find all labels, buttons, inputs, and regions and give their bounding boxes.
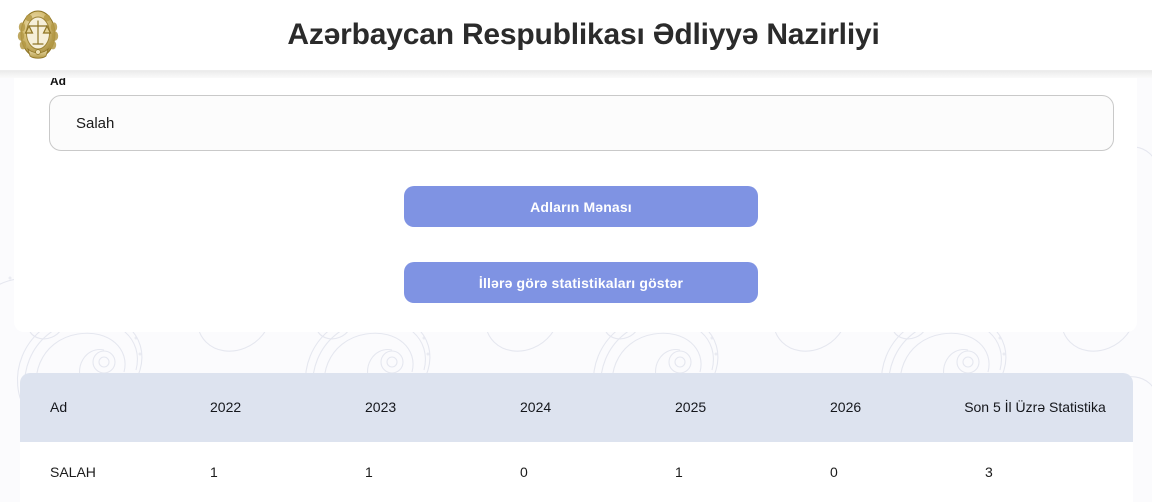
col-header-total: Son 5 İl Üzrə Statistika	[955, 373, 1133, 442]
results-table-container: Ad 2022 2023 2024 2025 2026 Son 5 İl Üzr…	[20, 373, 1133, 502]
adlarin-menasi-button[interactable]: Adların Mənası	[404, 186, 758, 227]
cell-total: 3	[955, 442, 1133, 502]
cell-2022: 1	[180, 442, 335, 502]
col-header-2024: 2024	[490, 373, 645, 442]
search-form-card: Ad Adların Mənası İllərə görə statistika…	[14, 64, 1137, 332]
cell-2023: 1	[335, 442, 490, 502]
col-header-2022: 2022	[180, 373, 335, 442]
col-header-2026: 2026	[800, 373, 955, 442]
table-row: SALAH 1 1 0 1 0 3	[20, 442, 1133, 502]
cell-2024: 0	[490, 442, 645, 502]
table-body: SALAH 1 1 0 1 0 3	[20, 442, 1133, 502]
table-header-row: Ad 2022 2023 2024 2025 2026 Son 5 İl Üzr…	[20, 373, 1133, 442]
page-title: Azərbaycan Respublikası Ədliyyə Nazirliy…	[15, 18, 1152, 52]
cell-2025: 1	[645, 442, 800, 502]
illere-gore-statistika-button[interactable]: İllərə görə statistikaları göstər	[404, 262, 758, 303]
cell-2026: 0	[800, 442, 955, 502]
results-table: Ad 2022 2023 2024 2025 2026 Son 5 İl Üzr…	[20, 373, 1133, 502]
site-header: Azərbaycan Respublikası Ədliyyə Nazirliy…	[0, 0, 1152, 71]
cell-name: SALAH	[20, 442, 180, 502]
col-header-name: Ad	[20, 373, 180, 442]
table-header: Ad 2022 2023 2024 2025 2026 Son 5 İl Üzr…	[20, 373, 1133, 442]
name-input[interactable]	[49, 95, 1114, 151]
header-divider	[0, 70, 1152, 78]
col-header-2025: 2025	[645, 373, 800, 442]
col-header-2023: 2023	[335, 373, 490, 442]
